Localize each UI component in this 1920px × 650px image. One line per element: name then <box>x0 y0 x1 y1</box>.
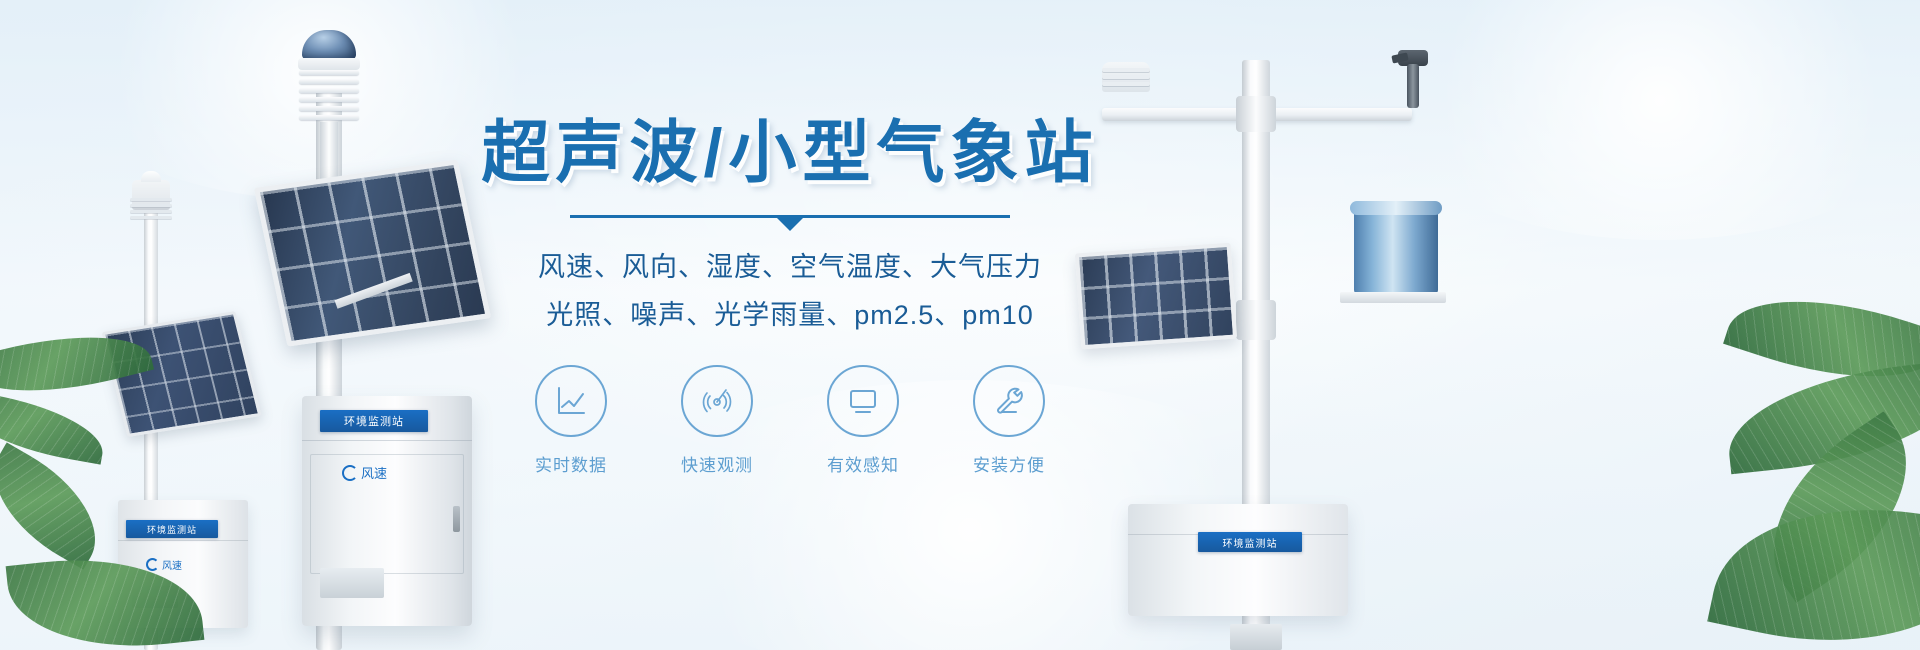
cabinet-latch <box>453 506 460 532</box>
radar-scan-icon <box>698 382 736 420</box>
feature-icon-circle <box>535 365 607 437</box>
feature-list: 实时数据 快速观测 <box>440 365 1140 476</box>
feature-icon-circle <box>827 365 899 437</box>
brand-g-icon <box>146 558 159 571</box>
feature-label: 安装方便 <box>959 451 1059 476</box>
banner-title: 超声波/小型气象站 <box>440 118 1140 189</box>
feature-item-realtime-data[interactable]: 实时数据 <box>521 365 621 476</box>
wrench-icon <box>990 382 1028 420</box>
feature-item-effective-sensing[interactable]: 有效感知 <box>813 365 913 476</box>
radiation-shield-fins-middle <box>299 70 359 122</box>
cabinet-vent-middle <box>320 568 384 598</box>
cabinet-label-middle: 环境监测站 <box>320 410 428 432</box>
feature-item-fast-observation[interactable]: 快速观测 <box>667 365 767 476</box>
mast-collar-lower <box>1236 300 1276 340</box>
monitor-icon <box>844 382 882 420</box>
control-cabinet-right <box>1128 504 1348 616</box>
shield-cap-middle <box>298 58 360 70</box>
mast-collar-upper <box>1236 96 1276 132</box>
feature-item-easy-install[interactable]: 安装方便 <box>959 365 1059 476</box>
rain-gauge-shelf <box>1340 292 1446 303</box>
subtitle-line-2: 光照、噪声、光学雨量、pm2.5、pm10 <box>440 292 1140 339</box>
rain-gauge-right <box>1354 208 1438 294</box>
sensor-stem-middle <box>320 122 338 182</box>
banner-subtitle: 风速、风向、湿度、空气温度、大气压力 光照、噪声、光学雨量、pm2.5、pm10 <box>440 244 1140 339</box>
feature-icon-circle <box>681 365 753 437</box>
cloud-2 <box>1380 0 1920 240</box>
brand-text-left: 风速 <box>162 557 182 572</box>
cabinet-label-right: 环境监测站 <box>1198 532 1302 552</box>
brand-logo-middle: 风速 <box>342 463 387 482</box>
brand-text-middle: 风速 <box>361 463 387 482</box>
brand-logo-left: 风速 <box>146 557 182 572</box>
ultrasonic-dome-sensor <box>302 30 356 60</box>
title-divider <box>570 215 1010 218</box>
radiation-shield-right <box>1102 62 1150 92</box>
leaf-bottom-left-3 <box>0 442 119 569</box>
feature-icon-circle <box>973 365 1045 437</box>
subtitle-line-1: 风速、风向、湿度、空气温度、大气压力 <box>440 244 1140 291</box>
cabinet-label-left: 环境监测站 <box>126 520 218 538</box>
mast-base-right <box>1230 624 1282 650</box>
product-banner: 环境监测站 风速 环境监测站 风速 <box>0 0 1920 650</box>
anemometer-body <box>1407 64 1419 108</box>
banner-content: 超声波/小型气象站 风速、风向、湿度、空气温度、大气压力 光照、噪声、光学雨量、… <box>440 118 1140 476</box>
brand-g-icon <box>342 465 358 481</box>
cabinet-seam <box>118 540 248 541</box>
radiation-shield-fins-left <box>130 198 172 224</box>
feature-label: 实时数据 <box>521 451 621 476</box>
feature-label: 快速观测 <box>667 451 767 476</box>
feature-label: 有效感知 <box>813 451 913 476</box>
line-chart-icon <box>552 382 590 420</box>
anemometer-right <box>1396 50 1430 108</box>
